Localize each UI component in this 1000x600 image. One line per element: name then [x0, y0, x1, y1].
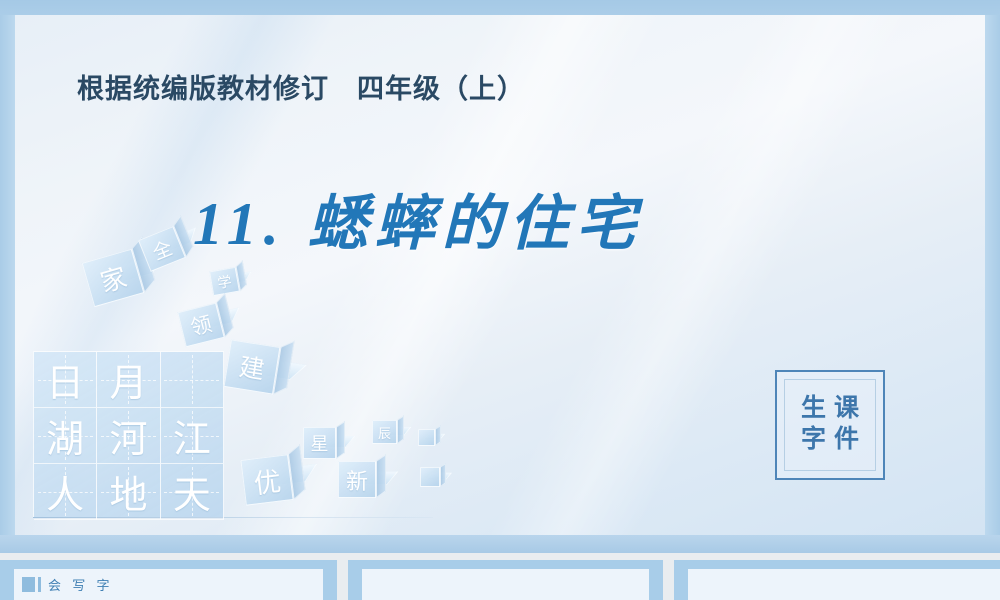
cube-top	[423, 434, 445, 440]
cube-baseline	[33, 517, 433, 518]
cube-face: 辰	[372, 420, 397, 444]
cube-face: 学	[209, 267, 240, 296]
courseware-badge[interactable]: 生 课 字 件	[775, 370, 885, 480]
floating-cube	[418, 429, 435, 446]
courseware-badge-grid: 生 课 字 件	[801, 395, 859, 455]
cube-top	[103, 253, 162, 287]
wall-char: 日	[46, 352, 84, 407]
cube-face	[418, 429, 435, 446]
cube-side	[336, 421, 345, 459]
wall-char: 天	[173, 464, 211, 519]
floating-cube: 建	[224, 339, 281, 394]
cube-side	[440, 463, 446, 487]
wall-cell: 湖	[34, 408, 97, 464]
floating-cube: 新	[338, 461, 376, 498]
cube-side	[288, 444, 305, 500]
slide-subtitle: 根据统编版教材修订 四年级（上）	[77, 67, 525, 106]
cube-face: 家	[82, 249, 145, 308]
footer-panel-3[interactable]	[674, 560, 1000, 600]
presentation-slide: 根据统编版教材修订 四年级（上） 11. 蟋蟀的住宅 生 课 字 件	[0, 0, 1000, 553]
badge-char-3: 字	[801, 426, 826, 455]
badge-char-4: 件	[834, 426, 859, 455]
slide-canvas: 根据统编版教材修订 四年级（上） 11. 蟋蟀的住宅 生 课 字 件	[15, 15, 985, 535]
footer-panel-1-label: 会 写 字	[48, 575, 114, 594]
bar-marker-icon	[38, 577, 41, 592]
cube-top	[193, 307, 239, 332]
cube-face: 全	[138, 226, 186, 272]
wall-cell: 月	[97, 352, 160, 408]
wall-char: 江	[173, 408, 211, 463]
character-cubes-illustration: 日 月 湖 河 江 人 地 天 家 全	[15, 235, 485, 535]
wall-cell: 日	[34, 352, 97, 408]
slide-title: 11. 蟋蟀的住宅	[193, 175, 643, 262]
footer-panel-1[interactable]: 会 写 字	[0, 560, 337, 600]
floating-cube: 优	[240, 454, 293, 506]
cube-side	[132, 236, 156, 293]
badge-char-2: 课	[834, 395, 859, 424]
cube-face: 优	[240, 454, 293, 506]
cube-face: 建	[224, 339, 281, 394]
wall-cell: 河	[97, 408, 160, 464]
floating-cube: 领	[177, 303, 225, 348]
cube-side	[376, 454, 386, 498]
slide-right-band	[985, 15, 1000, 535]
slide-stage: 根据统编版教材修订 四年级（上） 11. 蟋蟀的住宅 生 课 字 件	[0, 0, 1000, 600]
badge-char-1: 生	[801, 395, 826, 424]
slide-left-band	[0, 15, 15, 535]
footer-panel-1-body: 会 写 字	[14, 569, 323, 600]
floating-cube: 星	[303, 427, 336, 459]
cube-top	[156, 227, 196, 256]
floating-cube: 辰	[372, 420, 397, 444]
floating-cube: 家	[82, 249, 145, 308]
footer-panel-2-body	[362, 569, 649, 600]
cube-side	[435, 425, 441, 446]
wall-char: 人	[46, 464, 84, 519]
footer-panel-row: 会 写 字	[0, 560, 1000, 600]
cube-top	[313, 436, 356, 448]
cube-side	[397, 415, 404, 444]
cube-side	[173, 215, 193, 258]
cube-side	[236, 260, 247, 291]
cube-face	[420, 467, 440, 487]
cube-top	[379, 427, 411, 436]
square-marker-icon	[22, 577, 35, 592]
wall-char: 月	[109, 352, 147, 407]
cube-top	[349, 471, 398, 484]
wall-char: 湖	[46, 408, 84, 463]
footer-panel-2[interactable]	[348, 560, 663, 600]
footer-panel-3-body	[688, 569, 1000, 600]
wall-char: 河	[109, 408, 147, 463]
cube-side	[273, 341, 295, 395]
floating-cube	[420, 467, 440, 487]
cube-top	[219, 271, 251, 286]
wall-cell: 人	[34, 464, 97, 520]
wall-cell: 江	[161, 408, 224, 464]
cube-top	[426, 473, 452, 480]
cube-face: 新	[338, 461, 376, 498]
cube-top	[258, 464, 317, 488]
cube-side	[216, 293, 234, 338]
floating-cube: 全	[138, 226, 186, 272]
floating-cube: 学	[209, 267, 240, 296]
cube-face: 星	[303, 427, 336, 459]
slide-bottom-band	[0, 535, 1000, 553]
slide-top-band	[0, 0, 1000, 15]
cube-face: 领	[177, 303, 225, 348]
wall-cell: 天	[161, 464, 224, 520]
wall-cell	[161, 352, 224, 408]
wall-cell: 地	[97, 464, 160, 520]
wall-char: 地	[109, 464, 147, 519]
cube-top	[241, 357, 307, 380]
character-wall-grid: 日 月 湖 河 江 人 地 天	[33, 351, 224, 517]
courseware-badge-frame: 生 课 字 件	[784, 379, 876, 471]
